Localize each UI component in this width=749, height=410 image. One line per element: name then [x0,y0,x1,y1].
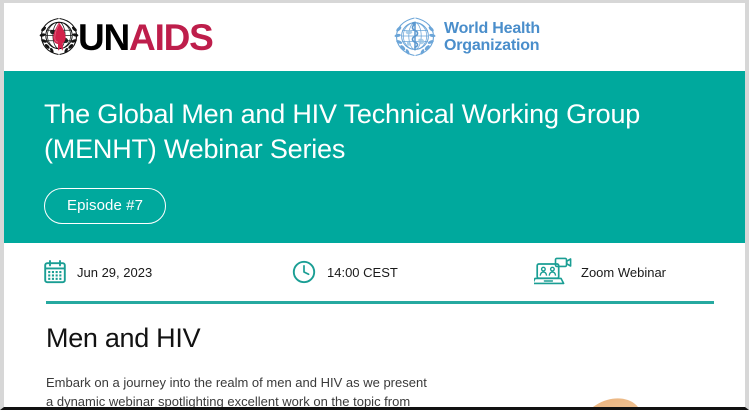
unaids-wordmark-un: UN [78,17,129,58]
unaids-wordmark: UNAIDS [78,19,213,56]
who-logo: World Health Organization [393,15,540,59]
event-platform: Zoom Webinar [534,243,666,301]
event-time-label: 14:00 CEST [327,265,398,280]
event-time: 14:00 CEST [292,243,398,301]
clock-icon [292,260,316,284]
hero-banner: The Global Men and HIV Technical Working… [4,71,745,243]
logo-header: UNAIDS [4,3,745,71]
section-description: Embark on a journey into the realm of me… [46,373,446,410]
section-divider [46,301,714,304]
unaids-logo: UNAIDS [37,14,213,60]
section-description-line1: Embark on a journey into the realm of me… [46,373,446,392]
video-webinar-icon [534,257,572,287]
content-section: Men and HIV Embark on a journey into the… [4,301,745,410]
unaids-emblem-icon [37,15,81,59]
event-meta-row: Jun 29, 2023 14:00 CEST [4,243,745,301]
calendar-icon [44,260,66,284]
webinar-series-title: The Global Men and HIV Technical Working… [44,97,664,167]
unaids-wordmark-aids: AIDS [129,17,213,58]
who-wordmark: World Health Organization [444,20,540,54]
section-description-line2: a dynamic webinar spotlighting excellent… [46,392,446,410]
who-wordmark-line2: Organization [444,37,539,54]
event-platform-label: Zoom Webinar [581,265,666,280]
event-date: Jun 29, 2023 [44,243,152,301]
event-date-label: Jun 29, 2023 [77,265,152,280]
hand-holding-capsule-pill-image [534,345,749,410]
episode-badge: Episode #7 [44,188,166,224]
who-emblem-icon [393,15,437,59]
webinar-flyer-page: UNAIDS [0,0,749,410]
section-title: Men and HIV [46,325,705,352]
who-wordmark-line1: World Health [444,20,540,37]
